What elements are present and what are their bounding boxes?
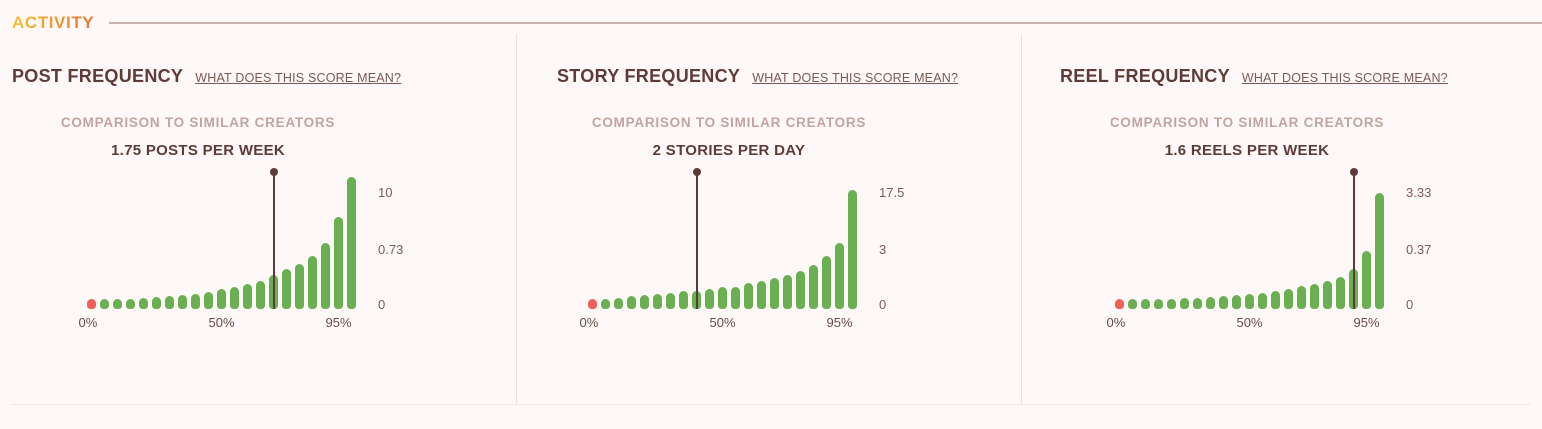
- bar: [1245, 294, 1254, 309]
- bar: [334, 217, 343, 309]
- bar: [1362, 251, 1371, 309]
- bar: [165, 296, 174, 309]
- bar: [1271, 291, 1280, 309]
- y-axis-tick-label: 0: [378, 297, 385, 312]
- bar: [614, 298, 623, 309]
- bar: [100, 299, 109, 309]
- bar-series: [588, 177, 861, 309]
- bar-series: [87, 177, 360, 309]
- bar: [1310, 284, 1319, 309]
- x-axis-tick-label: 50%: [1237, 315, 1263, 330]
- bar: [1297, 286, 1306, 309]
- card-header-post: POST FREQUENCY WHAT DOES THIS SCORE MEAN…: [0, 34, 516, 87]
- bar: [295, 264, 304, 309]
- page-title: ACTIVITY: [12, 13, 94, 33]
- bar: [809, 265, 818, 309]
- x-axis-tick-label: 95%: [326, 315, 352, 330]
- bar: [627, 296, 636, 309]
- x-axis-tick-label: 0%: [580, 315, 599, 330]
- x-axis-tick-label: 50%: [710, 315, 736, 330]
- y-axis-tick-label: 17.5: [879, 185, 904, 200]
- bar: [679, 291, 688, 309]
- card-title-story-frequency: STORY FREQUENCY: [557, 66, 740, 87]
- x-axis-tick-label: 0%: [79, 315, 98, 330]
- bar: [1180, 298, 1189, 309]
- bar: [321, 243, 330, 309]
- y-axis-tick-label: 0.37: [1406, 242, 1431, 257]
- chart-post-frequency: 100.7300%50%95%: [0, 175, 516, 335]
- bar: [1154, 299, 1163, 309]
- bar: [243, 284, 252, 309]
- bar: [1115, 299, 1124, 309]
- bar: [718, 287, 727, 309]
- card-title-post-frequency: POST FREQUENCY: [12, 66, 183, 87]
- creator-position-marker: [1353, 174, 1355, 309]
- bar: [1193, 298, 1202, 309]
- chart-reel-frequency: 3.330.3700%50%95%: [1022, 175, 1542, 335]
- bar: [770, 278, 779, 309]
- bar: [588, 299, 597, 309]
- y-axis-tick-label: 10: [378, 185, 392, 200]
- bar-series: [1115, 177, 1388, 309]
- bar: [601, 299, 610, 309]
- bar: [204, 292, 213, 309]
- bar: [113, 299, 122, 309]
- bar: [139, 298, 148, 309]
- y-axis-tick-label: 0.73: [378, 242, 403, 257]
- metric-label-post: 1.75 POSTS PER WEEK: [0, 142, 516, 159]
- bar: [1128, 299, 1137, 309]
- comparison-label-post: COMPARISON TO SIMILAR CREATORS: [0, 115, 516, 130]
- chart-story-frequency: 17.5300%50%95%: [517, 175, 1021, 335]
- score-explainer-link-post[interactable]: WHAT DOES THIS SCORE MEAN?: [195, 71, 401, 85]
- card-title-reel-frequency: REEL FREQUENCY: [1060, 66, 1230, 87]
- bar: [822, 256, 831, 309]
- bar: [126, 299, 135, 309]
- creator-position-marker: [696, 174, 698, 309]
- card-header-story: STORY FREQUENCY WHAT DOES THIS SCORE MEA…: [517, 34, 1021, 87]
- bar: [653, 294, 662, 309]
- bar: [178, 295, 187, 309]
- card-post-frequency: POST FREQUENCY WHAT DOES THIS SCORE MEAN…: [0, 34, 516, 405]
- metric-label-reel: 1.6 REELS PER WEEK: [1022, 142, 1542, 159]
- score-explainer-link-story[interactable]: WHAT DOES THIS SCORE MEAN?: [752, 71, 958, 85]
- bar: [308, 256, 317, 309]
- x-axis-tick-label: 50%: [209, 315, 235, 330]
- x-axis-tick-label: 95%: [1354, 315, 1380, 330]
- bar: [848, 190, 857, 309]
- card-story-frequency: STORY FREQUENCY WHAT DOES THIS SCORE MEA…: [516, 34, 1021, 405]
- bar: [835, 243, 844, 309]
- score-explainer-link-reel[interactable]: WHAT DOES THIS SCORE MEAN?: [1242, 71, 1448, 85]
- y-axis-tick-label: 0: [879, 297, 886, 312]
- bar: [347, 177, 356, 309]
- bar: [230, 287, 239, 309]
- bar: [705, 289, 714, 309]
- bar: [1167, 299, 1176, 309]
- card-reel-frequency: REEL FREQUENCY WHAT DOES THIS SCORE MEAN…: [1021, 34, 1542, 405]
- x-axis-tick-label: 0%: [1107, 315, 1126, 330]
- creator-position-marker: [273, 174, 275, 309]
- bar: [731, 287, 740, 309]
- header-divider-line: [109, 22, 1542, 24]
- bar: [152, 297, 161, 309]
- bar: [783, 275, 792, 309]
- card-header-reel: REEL FREQUENCY WHAT DOES THIS SCORE MEAN…: [1022, 34, 1542, 87]
- activity-panel: POST FREQUENCY WHAT DOES THIS SCORE MEAN…: [0, 34, 1542, 405]
- bar: [1219, 296, 1228, 309]
- bar: [640, 295, 649, 309]
- bar: [1336, 277, 1345, 309]
- bar: [757, 281, 766, 309]
- y-axis-tick-label: 3: [879, 242, 886, 257]
- bar: [1323, 281, 1332, 309]
- bar: [1284, 289, 1293, 309]
- comparison-label-reel: COMPARISON TO SIMILAR CREATORS: [1022, 115, 1542, 130]
- y-axis-tick-label: 0: [1406, 297, 1413, 312]
- bar: [1141, 299, 1150, 309]
- bar: [217, 289, 226, 309]
- bar: [282, 269, 291, 309]
- bar: [87, 299, 96, 309]
- x-axis-tick-label: 95%: [827, 315, 853, 330]
- bar: [191, 294, 200, 309]
- bar: [796, 271, 805, 309]
- bar: [256, 281, 265, 309]
- bar: [666, 293, 675, 309]
- comparison-label-story: COMPARISON TO SIMILAR CREATORS: [517, 115, 1021, 130]
- bar: [1375, 193, 1384, 309]
- y-axis-tick-label: 3.33: [1406, 185, 1431, 200]
- bar: [744, 283, 753, 309]
- bar: [1232, 295, 1241, 309]
- bar: [1258, 293, 1267, 310]
- panel-bottom-divider: [12, 404, 1530, 405]
- bar: [1206, 297, 1215, 309]
- metric-label-story: 2 STORIES PER DAY: [517, 142, 1021, 159]
